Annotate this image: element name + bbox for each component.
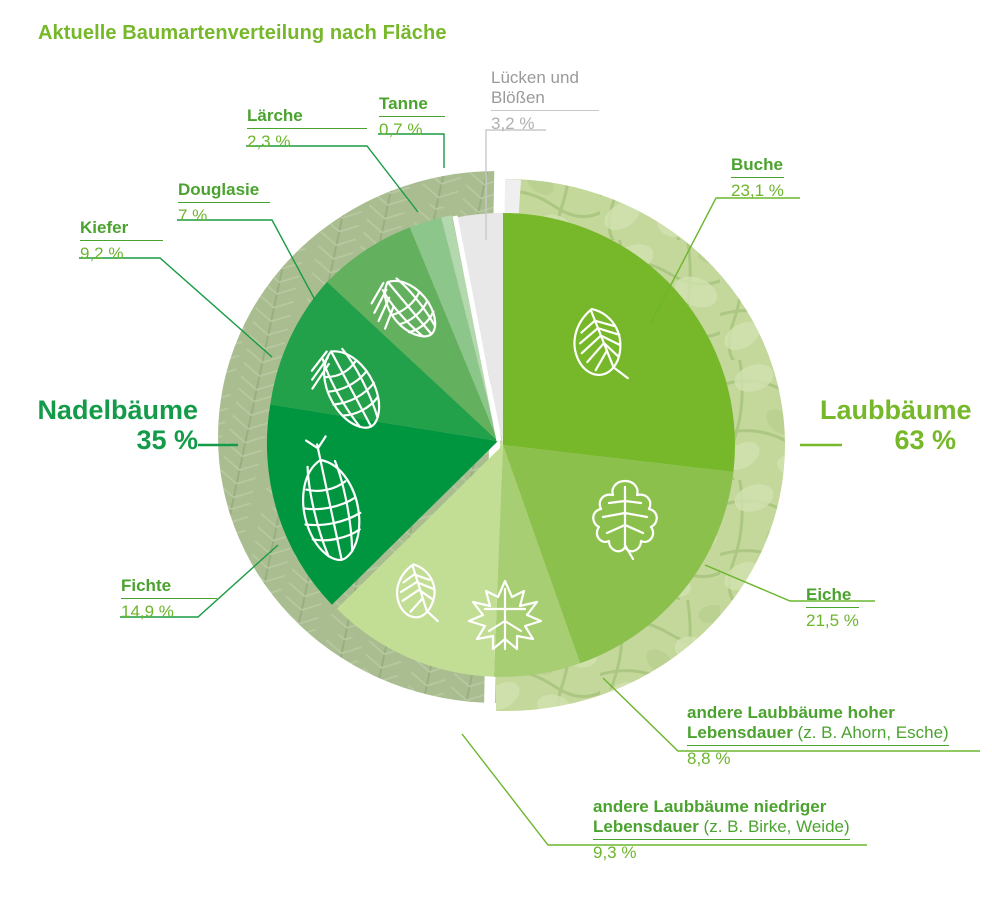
group-label-laubbaeume-name: Laubbäume xyxy=(820,395,990,425)
callout-tanne-value: 0,7 % xyxy=(379,119,445,140)
callout-laerche-rule xyxy=(247,128,367,129)
callout-niedriger-line2: Lebensdauer (z. B. Birke, Weide) xyxy=(593,817,850,837)
callout-luecken-line2: Blößen xyxy=(491,88,599,108)
group-label-nadelbaeume-name: Nadelbäume xyxy=(18,395,198,425)
callout-andere-laubbaeume-niedriger-lebensdauer[interactable]: andere Laubbäume niedriger Lebensdauer (… xyxy=(593,797,850,863)
callout-buche[interactable]: Buche 23,1 % xyxy=(731,155,784,201)
callout-andere-laubbaeume-hoher-lebensdauer[interactable]: andere Laubbäume hoher Lebensdauer (z. B… xyxy=(687,703,949,769)
callout-niedriger-line2-examples: (z. B. Birke, Weide) xyxy=(704,817,850,836)
callout-hoher-rule xyxy=(687,745,949,746)
callout-eiche[interactable]: Eiche 21,5 % xyxy=(806,585,859,631)
callout-douglasie-label: Douglasie xyxy=(178,180,270,200)
callout-douglasie[interactable]: Douglasie 7 % xyxy=(178,180,270,226)
callout-fichte[interactable]: Fichte 14,9 % xyxy=(121,576,217,622)
callout-luecken-und-bloessen[interactable]: Lücken und Blößen 3,2 % xyxy=(491,68,599,134)
callout-douglasie-rule xyxy=(178,202,270,203)
callout-hoher-line2-examples: (z. B. Ahorn, Esche) xyxy=(798,723,949,742)
callout-kiefer-value: 9,2 % xyxy=(80,243,163,264)
group-label-laubbaeume: Laubbäume 63 % xyxy=(820,395,990,455)
callout-fichte-value: 14,9 % xyxy=(121,601,217,622)
callout-hoher-value: 8,8 % xyxy=(687,748,949,769)
callout-eiche-label: Eiche xyxy=(806,585,859,605)
group-label-laubbaeume-value: 63 % xyxy=(820,425,990,455)
group-label-nadelbaeume-value: 35 % xyxy=(18,425,198,455)
callout-kiefer-label: Kiefer xyxy=(80,218,163,238)
callout-kiefer-rule xyxy=(80,240,163,241)
callout-tanne-rule xyxy=(379,116,445,117)
callout-niedriger-rule xyxy=(593,839,850,840)
callout-hoher-line2-main: Lebensdauer xyxy=(687,723,798,742)
callout-eiche-rule xyxy=(806,607,859,608)
page-title: Aktuelle Baumartenverteilung nach Fläche xyxy=(38,22,447,45)
callout-buche-value: 23,1 % xyxy=(731,180,784,201)
group-label-nadelbaeume: Nadelbäume 35 % xyxy=(18,395,198,455)
callout-niedriger-value: 9,3 % xyxy=(593,842,850,863)
callout-laerche-label: Lärche xyxy=(247,106,367,126)
callout-fichte-rule xyxy=(121,598,217,599)
callout-laerche-value: 2,3 % xyxy=(247,131,367,152)
slice-buche[interactable] xyxy=(503,213,735,472)
callout-buche-rule xyxy=(731,177,784,178)
callout-niedriger-line2-main: Lebensdauer xyxy=(593,817,704,836)
callout-hoher-line2: Lebensdauer (z. B. Ahorn, Esche) xyxy=(687,723,949,743)
callout-eiche-value: 21,5 % xyxy=(806,610,859,631)
callout-laerche[interactable]: Lärche 2,3 % xyxy=(247,106,367,152)
callout-tanne[interactable]: Tanne 0,7 % xyxy=(379,94,445,140)
infographic-canvas: Aktuelle Baumartenverteilung nach Fläche… xyxy=(0,0,992,902)
callout-hoher-line1: andere Laubbäume hoher xyxy=(687,703,949,723)
callout-niedriger-line1: andere Laubbäume niedriger xyxy=(593,797,850,817)
callout-luecken-rule xyxy=(491,110,599,111)
callout-luecken-value: 3,2 % xyxy=(491,113,599,134)
callout-tanne-label: Tanne xyxy=(379,94,445,114)
callout-fichte-label: Fichte xyxy=(121,576,217,596)
callout-buche-label: Buche xyxy=(731,155,784,175)
callout-kiefer[interactable]: Kiefer 9,2 % xyxy=(80,218,163,264)
callout-douglasie-value: 7 % xyxy=(178,205,270,226)
callout-luecken-line1: Lücken und xyxy=(491,68,599,88)
